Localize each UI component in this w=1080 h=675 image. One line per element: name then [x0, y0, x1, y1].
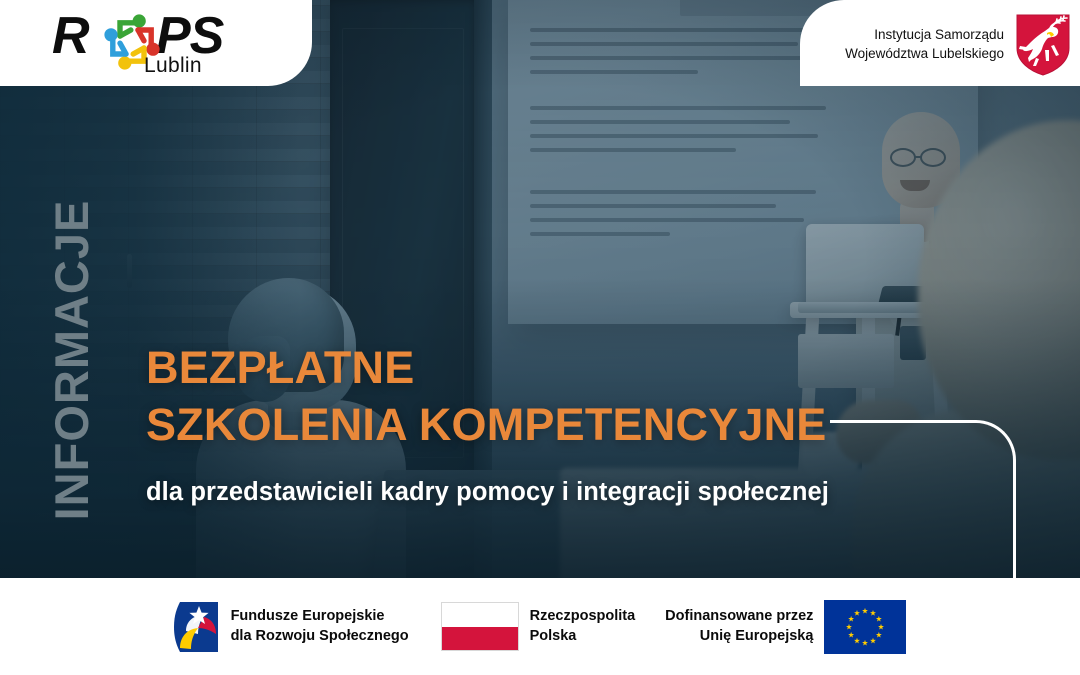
decorative-corner-rule: [830, 420, 1016, 580]
footer-fundusze-line-2: dla Rozwoju Społecznego: [231, 627, 409, 647]
footer-text-rzeczpospolita: Rzeczpospolita Polska: [530, 607, 636, 646]
footer-fundusze-line-1: Fundusze Europejskie: [231, 607, 409, 627]
eu-funds-emblem-icon: [174, 601, 220, 653]
headline-line-2: SZKOLENIA KOMPETENCYJNE: [146, 397, 827, 454]
rops-logo-subtitle: Lublin: [144, 54, 202, 78]
footer-text-fundusze: Fundusze Europejskie dla Rozwoju Społecz…: [231, 607, 409, 646]
footer-logo-fundusze-europejskie: Fundusze Europejskie dla Rozwoju Społecz…: [174, 601, 409, 653]
vertical-section-label: INFORMACJE: [42, 160, 102, 560]
institution-line-1: Instytucja Samorządu: [845, 26, 1004, 45]
headline-subtitle: dla przedstawicieli kadry pomocy i integ…: [146, 478, 829, 507]
footer-text-dofinansowane: Dofinansowane przez Unię Europejską: [665, 607, 813, 646]
rops-logo[interactable]: R PS: [52, 8, 232, 80]
lublin-coat-of-arms-icon: [1016, 14, 1070, 76]
footer-ue-line-2: Unię Europejską: [665, 627, 813, 647]
institution-block: Instytucja Samorządu Województwa Lubelsk…: [820, 18, 1070, 72]
polish-flag-icon: [441, 602, 519, 651]
headline-line-1: BEZPŁATNE: [146, 340, 827, 397]
footer-logo-rzeczpospolita-polska: Rzeczpospolita Polska: [441, 602, 636, 651]
european-union-flag-icon: [824, 600, 906, 654]
institution-line-2: Województwa Lubelskiego: [845, 45, 1004, 64]
footer-logo-bar: Fundusze Europejskie dla Rozwoju Społecz…: [0, 578, 1080, 675]
footer-rp-line-2: Polska: [530, 627, 636, 647]
rops-logo-letter-r: R: [52, 10, 89, 62]
footer-logo-unia-europejska: Dofinansowane przez Unię Europejską: [665, 600, 906, 654]
institution-text: Instytucja Samorządu Województwa Lubelsk…: [845, 26, 1004, 63]
headline-block: BEZPŁATNE SZKOLENIA KOMPETENCYJNE: [146, 340, 827, 453]
footer-rp-line-1: Rzeczpospolita: [530, 607, 636, 627]
poster-banner: R PS: [0, 0, 1080, 675]
footer-ue-line-1: Dofinansowane przez: [665, 607, 813, 627]
